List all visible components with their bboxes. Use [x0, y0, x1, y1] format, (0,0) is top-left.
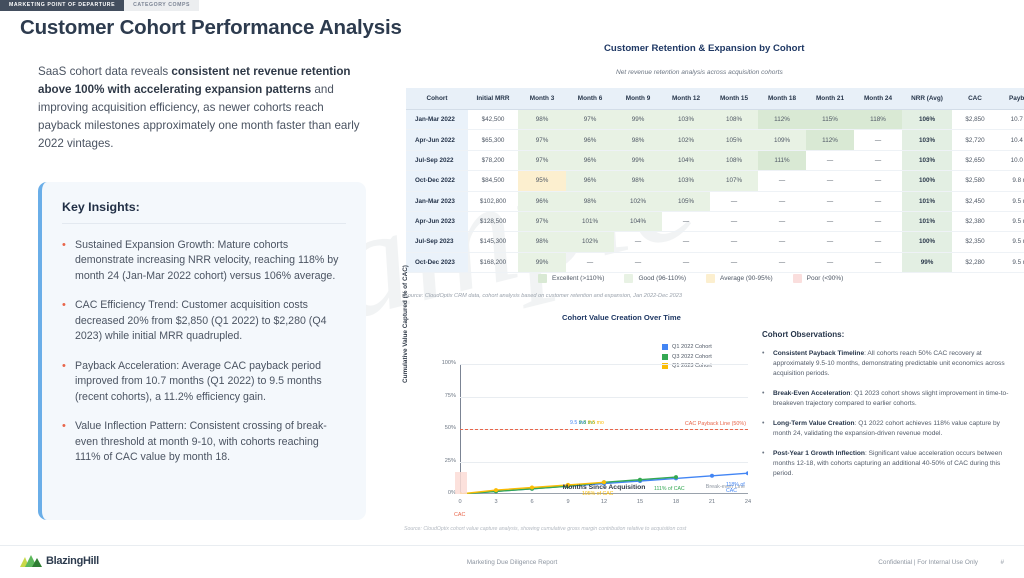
table-cell: —	[758, 252, 806, 272]
cac-label: CAC	[454, 512, 465, 518]
chart-x-axis-label: Months Since Acquisition	[460, 484, 748, 491]
footer-divider	[0, 545, 1024, 546]
legend-swatch	[793, 274, 802, 283]
table-row: Jan-Mar 2023$102,80096%98%102%105%————10…	[406, 191, 1024, 211]
y-tick-label: 75%	[436, 393, 456, 399]
column-header: Month 18	[758, 88, 806, 110]
column-header: Month 24	[854, 88, 902, 110]
legend-swatch	[624, 274, 633, 283]
table-cell: 108%	[710, 150, 758, 170]
table-cell: 96%	[518, 191, 566, 211]
divider	[62, 223, 346, 224]
payback-month-label: 9.5 mo	[588, 420, 604, 426]
table-cell: Jul-Sep 2023	[406, 232, 468, 252]
column-header: Month 6	[566, 88, 614, 110]
list-item: • CAC Efficiency Trend: Customer acquisi…	[62, 298, 346, 344]
list-item: •Long-Term Value Creation: Q1 2022 cohor…	[762, 419, 1018, 439]
gridline	[460, 397, 748, 398]
table-cell: —	[758, 211, 806, 231]
observation-title: Consistent Payback Timeline	[773, 350, 864, 357]
table-cell: $102,800	[468, 191, 518, 211]
y-tick-label: 25%	[436, 458, 456, 464]
table-cell: 101%	[566, 211, 614, 231]
table-cell: 99%	[614, 150, 662, 170]
legend-item: Excellent (>110%)	[538, 274, 604, 283]
table-cell: —	[854, 171, 902, 191]
tab-bar: MARKETING POINT OF DEPARTURE CATEGORY CO…	[0, 0, 199, 11]
x-tick-label: 18	[673, 499, 679, 505]
list-item: •Post-Year 1 Growth Inflection: Signific…	[762, 449, 1018, 479]
table-cell: Apr-Jun 2023	[406, 211, 468, 231]
column-header: Month 21	[806, 88, 854, 110]
table-cell: 98%	[518, 232, 566, 252]
table-cell: —	[662, 211, 710, 231]
table-body: Jan-Mar 2022$42,50098%97%99%103%108%112%…	[406, 110, 1024, 273]
cohort-value-chart: Cumulative Value Captured (% of CAC) Q1 …	[404, 332, 764, 522]
bullet-icon: •	[762, 349, 773, 379]
table-cell: Oct-Dec 2023	[406, 252, 468, 272]
column-header: Month 9	[614, 88, 662, 110]
table-cell: $2,720	[952, 130, 998, 150]
table-cell: 102%	[662, 130, 710, 150]
table-row: Oct-Dec 2023$168,20099%———————99%$2,2809…	[406, 252, 1024, 272]
insight-text: Value Inflection Pattern: Consistent cro…	[75, 419, 346, 465]
table-cell: —	[854, 211, 902, 231]
insight-text: CAC Efficiency Trend: Customer acquisiti…	[75, 298, 346, 344]
observation-title: Break-Even Acceleration	[773, 390, 850, 397]
table-cell: $168,200	[468, 252, 518, 272]
list-item: • Payback Acceleration: Average CAC payb…	[62, 359, 346, 405]
table-cell: 112%	[758, 110, 806, 130]
retention-table-subtitle: Net revenue retention analysis across ac…	[616, 69, 783, 76]
table-cell: $2,350	[952, 232, 998, 252]
table-cell: —	[758, 232, 806, 252]
table-row: Apr-Jun 2023$128,50097%101%104%—————101%…	[406, 211, 1024, 231]
table-cell: 111%	[758, 150, 806, 170]
y-tick-label: 100%	[436, 360, 456, 366]
footer-confidential: Confidential | For Internal Use Only	[878, 559, 978, 566]
list-item: • Sustained Expansion Growth: Mature coh…	[62, 238, 346, 284]
retention-table-title: Customer Retention & Expansion by Cohort	[604, 43, 804, 54]
table-cell: $42,500	[468, 110, 518, 130]
table-row: Oct-Dec 2022$84,50095%96%98%103%107%———1…	[406, 171, 1024, 191]
column-header: Payback	[998, 88, 1024, 110]
observation-title: Long-Term Value Creation	[773, 420, 855, 427]
table-cell: 9.5 mo	[998, 211, 1024, 231]
bullet-icon: •	[62, 238, 75, 284]
table-cell: —	[806, 252, 854, 272]
chart-y-axis-label: Cumulative Value Captured (% of CAC)	[402, 264, 409, 384]
table-cell: 103%	[662, 110, 710, 130]
table-cell: 97%	[566, 110, 614, 130]
table-cell: $2,650	[952, 150, 998, 170]
table-cell: 98%	[614, 130, 662, 150]
series-end-label: 105% of CAC	[582, 491, 613, 497]
table-cell: 101%	[902, 211, 952, 231]
table-cell: —	[854, 150, 902, 170]
table-cell: 101%	[902, 191, 952, 211]
table-cell: —	[854, 191, 902, 211]
table-cell: —	[758, 171, 806, 191]
observations-heading: Cohort Observations:	[762, 330, 1018, 339]
table-cell: 105%	[710, 130, 758, 150]
legend-item: Good (96-110%)	[624, 274, 686, 283]
chart-point	[710, 474, 714, 478]
page-title: Customer Cohort Performance Analysis	[20, 16, 402, 40]
table-cell: 10.0 mo	[998, 150, 1024, 170]
table-cell: 103%	[662, 171, 710, 191]
table-row: Jul-Sep 2023$145,30098%102%——————100%$2,…	[406, 232, 1024, 252]
table-cell: 112%	[806, 130, 854, 150]
bullet-icon: •	[62, 298, 75, 344]
table-cell: Jan-Mar 2022	[406, 110, 468, 130]
bullet-icon: •	[762, 389, 773, 409]
legend-label: Average (90-95%)	[720, 275, 773, 282]
table-cell: —	[806, 211, 854, 231]
x-tick-label: 6	[530, 499, 533, 505]
column-header: Cohort	[406, 88, 468, 110]
table-cell: 106%	[902, 110, 952, 130]
x-tick-label: 3	[494, 499, 497, 505]
table-cell: —	[854, 130, 902, 150]
retention-table-source: Source: CloudOptix CRM data, cohort anal…	[404, 293, 682, 299]
y-tick-label: 50%	[436, 425, 456, 431]
gridline	[460, 364, 748, 365]
table-cell: Jul-Sep 2022	[406, 150, 468, 170]
table-cell: —	[806, 191, 854, 211]
table-cell: 99%	[614, 110, 662, 130]
table-cell: 97%	[518, 130, 566, 150]
tab-marketing-point-of-departure[interactable]: MARKETING POINT OF DEPARTURE	[0, 0, 124, 11]
table-cell: 104%	[614, 211, 662, 231]
table-cell: $145,300	[468, 232, 518, 252]
table-cell: 9.5 mo	[998, 232, 1024, 252]
chart-plot-area: 0%25%50%75%100%03691215182124CAC Payback…	[460, 364, 748, 494]
table-cell: —	[710, 191, 758, 211]
table-cell: 105%	[662, 191, 710, 211]
x-tick-label: 15	[637, 499, 643, 505]
legend-item: Average (90-95%)	[706, 274, 773, 283]
table-cell: $84,500	[468, 171, 518, 191]
table-cell: 103%	[902, 130, 952, 150]
tab-category-comps[interactable]: CATEGORY COMPS	[124, 0, 199, 11]
table-cell: 10.7 mo	[998, 110, 1024, 130]
chart-point	[674, 475, 678, 479]
table-cell: 100%	[902, 171, 952, 191]
chart-legend-item[interactable]: Q3 2022 Cohort	[662, 354, 712, 360]
legend-swatch	[706, 274, 715, 283]
table-row: Jan-Mar 2022$42,50098%97%99%103%108%112%…	[406, 110, 1024, 130]
table-cell: 96%	[566, 130, 614, 150]
chart-source: Source: CloudOptix cohort value capture …	[404, 526, 686, 532]
table-cell: —	[806, 232, 854, 252]
table-cell: 103%	[902, 150, 952, 170]
list-item: •Break-Even Acceleration: Q1 2023 cohort…	[762, 389, 1018, 409]
cohort-observations: Cohort Observations: •Consistent Payback…	[762, 330, 1018, 489]
table-cell: 107%	[710, 171, 758, 191]
list-item: • Value Inflection Pattern: Consistent c…	[62, 419, 346, 465]
chart-point	[746, 471, 748, 475]
table-cell: 96%	[566, 150, 614, 170]
chart-legend-item[interactable]: Q1 2022 Cohort	[662, 344, 712, 350]
table-cell: $128,500	[468, 211, 518, 231]
table-cell: 109%	[758, 130, 806, 150]
observation-text: Post-Year 1 Growth Inflection: Significa…	[773, 449, 1018, 479]
chart-point	[638, 478, 642, 482]
table-cell: $2,850	[952, 110, 998, 130]
column-header: Initial MRR	[468, 88, 518, 110]
footer-center-text: Marketing Due Diligence Report	[0, 559, 1024, 566]
table-cell: 95%	[518, 171, 566, 191]
table-cell: 98%	[614, 171, 662, 191]
lede-part1: SaaS cohort data reveals	[38, 65, 171, 78]
table-cell: 97%	[518, 150, 566, 170]
table-cell: 104%	[662, 150, 710, 170]
table-cell: 9.5 mo	[998, 191, 1024, 211]
table-cell: —	[566, 252, 614, 272]
table-cell: Jan-Mar 2023	[406, 191, 468, 211]
table-cell: —	[854, 232, 902, 252]
column-header: Month 3	[518, 88, 566, 110]
observation-text: Long-Term Value Creation: Q1 2022 cohort…	[773, 419, 1018, 439]
table-cell: $2,580	[952, 171, 998, 191]
chart-legend-label: Q1 2022 Cohort	[672, 344, 712, 350]
table-cell: —	[854, 252, 902, 272]
table-cell: 108%	[710, 110, 758, 130]
table-cell: 98%	[566, 191, 614, 211]
table-cell: —	[806, 150, 854, 170]
y-tick-label: 0%	[436, 490, 456, 496]
table-cell: $2,450	[952, 191, 998, 211]
legend-swatch	[538, 274, 547, 283]
column-header: Month 12	[662, 88, 710, 110]
table-cell: 102%	[566, 232, 614, 252]
key-insights-card: Key Insights: • Sustained Expansion Grow…	[38, 182, 366, 520]
chart-title: Cohort Value Creation Over Time	[562, 313, 681, 322]
legend-label: Poor (<90%)	[807, 275, 844, 282]
observation-text: Consistent Payback Timeline: All cohorts…	[773, 349, 1018, 379]
table-cell: —	[662, 232, 710, 252]
table-row: Apr-Jun 2022$65,30097%96%98%102%105%109%…	[406, 130, 1024, 150]
table-cell: —	[806, 171, 854, 191]
chart-legend-swatch	[662, 354, 668, 360]
table-cell: 9.5 mo	[998, 252, 1024, 272]
gridline	[460, 462, 748, 463]
table-row: Jul-Sep 2022$78,20097%96%99%104%108%111%…	[406, 150, 1024, 170]
table-cell: $2,380	[952, 211, 998, 231]
bullet-icon: •	[762, 419, 773, 439]
table-cell: —	[710, 232, 758, 252]
column-header: NRR (Avg)	[902, 88, 952, 110]
slide-root: MARKETING POINT OF DEPARTURE CATEGORY CO…	[0, 0, 1024, 578]
table-cell: —	[758, 191, 806, 211]
bullet-icon: •	[762, 449, 773, 479]
column-header: CAC	[952, 88, 998, 110]
lede-paragraph: SaaS cohort data reveals consistent net …	[38, 63, 368, 153]
table-cell: 9.8 mo	[998, 171, 1024, 191]
x-tick-label: 24	[745, 499, 751, 505]
footer-page-number: #	[1000, 559, 1004, 566]
x-tick-label: 9	[566, 499, 569, 505]
legend-item: Poor (<90%)	[793, 274, 844, 283]
table-cell: $2,280	[952, 252, 998, 272]
bullet-icon: •	[62, 419, 75, 465]
table-cell: 97%	[518, 211, 566, 231]
bullet-icon: •	[62, 359, 75, 405]
observation-text: Break-Even Acceleration: Q1 2023 cohort …	[773, 389, 1018, 409]
table-cell: 99%	[902, 252, 952, 272]
table-cell: 100%	[902, 232, 952, 252]
list-item: •Consistent Payback Timeline: All cohort…	[762, 349, 1018, 379]
observation-title: Post-Year 1 Growth Inflection	[773, 450, 865, 457]
table-header-row: CohortInitial MRRMonth 3Month 6Month 9Mo…	[406, 88, 1024, 110]
table-cell: —	[614, 252, 662, 272]
key-insights-heading: Key Insights:	[62, 200, 346, 214]
insight-text: Payback Acceleration: Average CAC paybac…	[75, 359, 346, 405]
table-cell: 99%	[518, 252, 566, 272]
cohort-table: CohortInitial MRRMonth 3Month 6Month 9Mo…	[406, 88, 1024, 273]
table-cell: $78,200	[468, 150, 518, 170]
table-cell: —	[662, 252, 710, 272]
insight-text: Sustained Expansion Growth: Mature cohor…	[75, 238, 346, 284]
table-cell: —	[710, 211, 758, 231]
retention-table-wrap: CohortInitial MRRMonth 3Month 6Month 9Mo…	[406, 88, 1018, 273]
table-cell: 118%	[854, 110, 902, 130]
table-cell: 96%	[566, 171, 614, 191]
table-legend: Excellent (>110%)Good (96-110%)Average (…	[538, 274, 843, 283]
chart-legend-swatch	[662, 344, 668, 350]
table-cell: $65,300	[468, 130, 518, 150]
table-cell: —	[710, 252, 758, 272]
x-tick-label: 12	[601, 499, 607, 505]
table-cell: 102%	[614, 191, 662, 211]
cac-payback-line	[460, 429, 748, 430]
table-cell: Apr-Jun 2022	[406, 130, 468, 150]
table-cell: Oct-Dec 2022	[406, 171, 468, 191]
chart-legend-label: Q3 2022 Cohort	[672, 354, 712, 360]
cac-payback-line-label: CAC Payback Line (50%)	[685, 421, 746, 427]
x-tick-label: 21	[709, 499, 715, 505]
legend-label: Excellent (>110%)	[552, 275, 604, 282]
legend-label: Good (96-110%)	[638, 275, 686, 282]
table-cell: 115%	[806, 110, 854, 130]
table-cell: 10.4 mo	[998, 130, 1024, 150]
table-cell: 98%	[518, 110, 566, 130]
column-header: Month 15	[710, 88, 758, 110]
x-tick-label: 0	[458, 499, 461, 505]
table-cell: —	[614, 232, 662, 252]
observations-list: •Consistent Payback Timeline: All cohort…	[762, 349, 1018, 479]
